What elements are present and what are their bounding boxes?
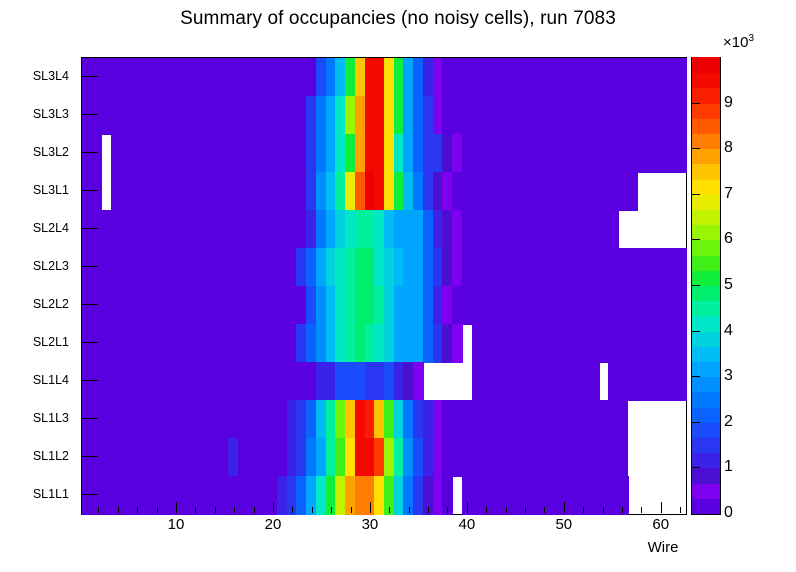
y-axis-tick-label: SL2L4	[33, 221, 69, 235]
colorbar-segment	[692, 376, 720, 392]
x-axis-minor-tick	[603, 507, 604, 513]
colorbar-tick	[691, 194, 700, 195]
y-axis-tick-label: SL3L3	[33, 107, 69, 121]
colorbar-segment	[692, 270, 720, 286]
colorbar-tick	[691, 422, 700, 423]
y-axis-tick-label: SL3L4	[33, 69, 69, 83]
heatmap-cell	[442, 96, 687, 135]
heatmap-cell	[452, 324, 463, 363]
colorbar-segment	[692, 392, 720, 408]
heatmap-cell	[111, 134, 307, 173]
chart-title: Summary of occupancies (no noisy cells),…	[0, 8, 796, 30]
x-axis-minor-tick	[254, 507, 255, 513]
colorbar-segment	[692, 407, 720, 423]
heatmap-cell	[462, 134, 687, 173]
heatmap-cell	[462, 248, 687, 287]
y-axis-tick	[81, 76, 98, 77]
y-axis-tick	[81, 228, 98, 229]
colorbar-tick-label: 4	[724, 322, 733, 340]
heatmap-cell	[442, 438, 628, 477]
colorbar-segment	[692, 346, 720, 362]
heatmap-cell	[403, 248, 423, 287]
x-axis-minor-tick	[312, 507, 313, 513]
x-axis-major-tick	[176, 502, 177, 513]
heatmap-cell	[442, 58, 687, 97]
x-axis-major-tick	[467, 502, 468, 513]
heatmap-cell	[82, 286, 307, 325]
heatmap-cell	[82, 96, 307, 135]
colorbar-segment	[692, 118, 720, 134]
y-axis-tick	[81, 190, 98, 191]
heatmap-cells	[82, 58, 686, 514]
root-canvas: Summary of occupancies (no noisy cells),…	[0, 0, 796, 572]
x-axis-minor-tick	[234, 507, 235, 513]
x-axis-major-tick	[370, 502, 371, 513]
heatmap-cell	[423, 134, 443, 173]
colorbar-tick	[691, 285, 700, 286]
y-axis-tick-label: SL3L2	[33, 145, 69, 159]
heatmap-cell	[82, 362, 317, 401]
x-axis-minor-tick	[544, 507, 545, 513]
y-axis-tick-label: SL1L4	[33, 373, 69, 387]
heatmap-cell	[355, 476, 375, 515]
colorbar-tick	[691, 331, 700, 332]
colorbar-segment	[692, 361, 720, 377]
heatmap-cell	[365, 134, 385, 173]
x-axis-minor-tick	[195, 507, 196, 513]
x-axis-tick-label: 20	[265, 516, 282, 533]
heatmap-cell	[394, 286, 424, 325]
colorbar-tick-label: 5	[724, 276, 733, 294]
x-axis-minor-tick	[622, 507, 623, 513]
colorbar-segment	[692, 240, 720, 256]
y-axis-tick-label: SL2L2	[33, 297, 69, 311]
heatmap-cell	[355, 438, 375, 477]
heatmap-cell	[355, 210, 375, 249]
colorbar-tick	[691, 103, 700, 104]
y-axis-tick	[81, 494, 98, 495]
colorbar-segment	[692, 194, 720, 210]
heatmap-cell	[394, 210, 424, 249]
colorbar-segment	[692, 422, 720, 438]
x-axis-minor-tick	[215, 507, 216, 513]
x-axis-major-tick	[564, 502, 565, 513]
colorbar-tick	[691, 148, 700, 149]
x-axis-minor-tick	[486, 507, 487, 513]
y-axis-tick	[81, 380, 98, 381]
heatmap-cell	[82, 134, 102, 173]
colorbar-segment	[692, 103, 720, 119]
x-axis-tick-label: 60	[652, 516, 669, 533]
colorbar-segment	[692, 468, 720, 484]
y-axis-labels: SL3L4SL3L3SL3L2SL3L1SL2L4SL2L3SL2L2SL2L1…	[0, 57, 77, 513]
x-axis-minor-tick	[331, 507, 332, 513]
heatmap-cell	[452, 172, 638, 211]
colorbar-tick	[691, 376, 700, 377]
heatmap-cell	[82, 248, 297, 287]
colorbar-tick	[691, 467, 700, 468]
x-axis-minor-tick	[292, 507, 293, 513]
x-axis-minor-tick	[506, 507, 507, 513]
x-axis-minor-tick	[118, 507, 119, 513]
colorbar-segment	[692, 179, 720, 195]
colorbar-segment	[692, 72, 720, 88]
colorbar-tick	[691, 239, 700, 240]
x-axis-tick-label: 10	[168, 516, 185, 533]
x-axis-minor-tick	[137, 507, 138, 513]
x-axis-title: Wire	[648, 539, 679, 556]
x-axis-major-tick	[661, 502, 662, 513]
heatmap-cell	[365, 58, 385, 97]
heatmap-cell	[355, 286, 375, 325]
colorbar-tick-label: 6	[724, 230, 733, 248]
x-axis-minor-tick	[351, 507, 352, 513]
y-axis-tick-label: SL3L1	[33, 183, 69, 197]
x-axis-minor-tick	[680, 507, 681, 513]
x-axis-minor-tick	[157, 507, 158, 513]
heatmap-cell	[608, 362, 687, 401]
heatmap-cell	[335, 362, 365, 401]
y-axis-tick-label: SL2L1	[33, 335, 69, 349]
x-axis-minor-tick	[583, 507, 584, 513]
colorbar-segment	[692, 57, 720, 73]
y-axis-tick	[81, 456, 98, 457]
colorbar-segment	[692, 285, 720, 301]
heatmap-plot-area	[81, 57, 687, 515]
colorbar-segment	[692, 452, 720, 468]
heatmap-cell	[394, 324, 424, 363]
colorbar-segment	[692, 316, 720, 332]
heatmap-cell	[452, 286, 687, 325]
x-axis-minor-tick	[447, 507, 448, 513]
heatmap-cell	[82, 210, 307, 249]
heatmap-cell	[82, 476, 278, 515]
x-axis-minor-tick	[409, 507, 410, 513]
colorbar-segment	[692, 300, 720, 316]
colorbar-segment	[692, 255, 720, 271]
colorbar-segment	[692, 331, 720, 347]
heatmap-cell	[472, 324, 687, 363]
colorbar-segment	[692, 224, 720, 240]
colorbar-segment	[692, 88, 720, 104]
y-axis-tick-label: SL2L3	[33, 259, 69, 273]
heatmap-cell	[82, 58, 317, 97]
colorbar	[691, 57, 721, 515]
colorbar-segment	[692, 148, 720, 164]
colorbar-tick-label: 1	[724, 458, 733, 476]
colorbar-segment	[692, 164, 720, 180]
heatmap-cell	[316, 362, 336, 401]
heatmap-cell	[82, 438, 229, 477]
colorbar-segment	[692, 483, 720, 499]
y-axis-tick-label: SL1L3	[33, 411, 69, 425]
y-axis-tick	[81, 266, 98, 267]
y-axis-tick	[81, 152, 98, 153]
colorbar-multiplier-exponent: 3	[748, 33, 754, 44]
x-axis-tick-label: 30	[362, 516, 379, 533]
colorbar-tick-label: 0	[724, 504, 733, 522]
heatmap-cell	[365, 362, 385, 401]
x-axis-major-tick	[273, 502, 274, 513]
heatmap-cell	[238, 438, 288, 477]
colorbar-tick-label: 8	[724, 139, 733, 157]
heatmap-cell	[365, 96, 385, 135]
heatmap-cell	[442, 400, 628, 439]
y-axis-tick-label: SL1L1	[33, 487, 69, 501]
colorbar-tick-label: 3	[724, 367, 733, 385]
heatmap-cell	[413, 362, 424, 401]
y-axis-tick	[81, 304, 98, 305]
heatmap-cell	[82, 324, 297, 363]
x-axis-minor-tick	[641, 507, 642, 513]
colorbar-segment	[692, 437, 720, 453]
colorbar-multiplier: ×103	[723, 33, 754, 51]
heatmap-cell	[82, 172, 102, 211]
colorbar-tick-label: 7	[724, 185, 733, 203]
x-axis-tick-label: 40	[459, 516, 476, 533]
colorbar-tick-label: 9	[724, 94, 733, 112]
colorbar-segment	[692, 209, 720, 225]
x-axis-minor-tick	[98, 507, 99, 513]
heatmap-cell	[462, 210, 619, 249]
colorbar-segment	[692, 498, 720, 514]
x-axis-minor-tick	[525, 507, 526, 513]
x-axis-minor-tick	[428, 507, 429, 513]
colorbar-segment	[692, 133, 720, 149]
y-axis-tick	[81, 342, 98, 343]
y-axis-tick	[81, 114, 98, 115]
x-axis-minor-tick	[389, 507, 390, 513]
x-axis-tick-label: 50	[555, 516, 572, 533]
heatmap-cell	[82, 400, 288, 439]
y-axis-tick-label: SL1L2	[33, 449, 69, 463]
heatmap-cell	[111, 172, 307, 211]
y-axis-tick	[81, 418, 98, 419]
heatmap-cell	[355, 248, 375, 287]
heatmap-cell	[472, 362, 600, 401]
colorbar-tick-label: 2	[724, 413, 733, 431]
